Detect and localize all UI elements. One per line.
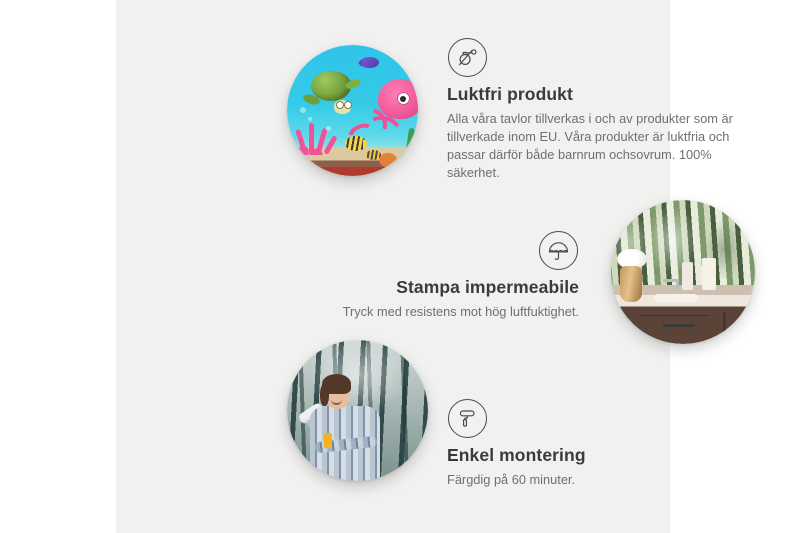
feature-block-odour-free: Luktfri produkt Alla våra tavlor tillver… (447, 38, 747, 183)
feature-description: Färgdig på 60 minuter. (447, 471, 707, 489)
underwater-scene (287, 45, 418, 176)
feature-image-underwater-kids-illustration (287, 45, 418, 176)
bubble-shape (308, 117, 312, 121)
umbrella-icon (539, 231, 578, 270)
feature-block-waterproof-print: Stampa impermeabile Tryck med resistens … (321, 231, 579, 321)
purple-fish-shape (360, 57, 379, 68)
no-odour-perfume-bottle-icon (448, 38, 487, 77)
drawer-handle-shape (663, 324, 695, 327)
faucet-shape (663, 279, 679, 282)
cabinet-handle-shape (723, 312, 726, 338)
sink-basin-shape (654, 294, 698, 302)
hand-tool-shape (324, 433, 332, 448)
feature-image-bathroom-botanical-wallpaper-photo (611, 200, 755, 344)
vase-shape (620, 266, 642, 302)
soap-bottle-shape (682, 262, 693, 290)
feature-title: Luktfri produkt (447, 84, 747, 105)
seaweed-shape (405, 127, 415, 158)
feature-title: Stampa impermeabile (321, 277, 579, 298)
paint-roller-icon (448, 399, 487, 438)
feature-title: Enkel montering (447, 445, 707, 466)
feature-description: Alla våra tavlor tillverkas i och av pro… (447, 110, 747, 183)
bubble-shape (300, 107, 306, 113)
product-feature-banner: Luktfri produkt Alla våra tavlor tillver… (0, 0, 800, 533)
bathroom-scene (611, 200, 755, 344)
forest-scene (287, 340, 428, 481)
soap-bottle-shape (702, 258, 716, 290)
feature-panel: Luktfri produkt Alla våra tavlor tillver… (116, 0, 670, 533)
striped-fish-shape (345, 136, 367, 151)
starfish-shape (379, 153, 397, 167)
feature-image-painter-in-forest-photo (287, 340, 428, 481)
hair-shape (322, 374, 351, 394)
feature-block-easy-mounting: Enkel montering Färgdig på 60 minuter. (447, 399, 707, 489)
feature-description: Tryck med resistens mot hög luftfuktighe… (321, 303, 579, 321)
drawer-seam (640, 315, 709, 316)
